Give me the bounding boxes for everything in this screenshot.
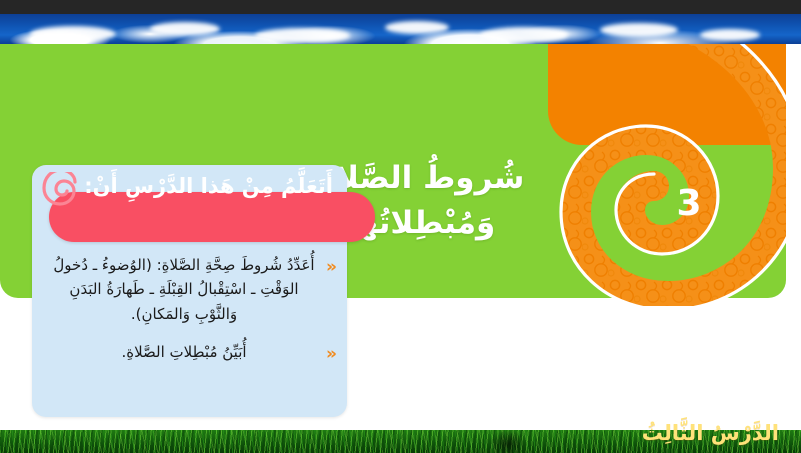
cloud-shape [700, 29, 760, 41]
objectives-list: « أُعَدِّدُ شُروطَ صِحَّةِ الصَّلاةِ: (ا… [46, 253, 337, 381]
objectives-card: أَتَعَلَّمُ مِنْ هَذا الدَّرْسِ أَنْ: « … [32, 165, 347, 417]
orange-header-block [548, 44, 786, 145]
cloud-shape [385, 21, 449, 34]
objective-text: أُعَدِّدُ شُروطَ صِحَّةِ الصَّلاةِ: (الو… [46, 253, 322, 326]
top-chrome-bar [0, 0, 801, 14]
cloud-shape [255, 28, 350, 43]
bullet-marker-icon: « [326, 340, 337, 367]
lesson-number-badge: 3 [676, 186, 702, 222]
lesson-page: الدَّرْسُ الثَّالِثُ [0, 0, 801, 453]
objectives-ribbon-title: أَتَعَلَّمُ مِنْ هَذا الدَّرْسِ أَنْ: [84, 174, 333, 198]
list-item: « أُعَدِّدُ شُروطَ صِحَّةِ الصَّلاةِ: (ا… [46, 253, 337, 326]
cloud-shape [150, 22, 220, 36]
cloud-shape [480, 27, 568, 43]
list-item: « أُبَيِّنُ مُبْطِلاتِ الصَّلاةِ. [46, 340, 337, 367]
right-margin [786, 44, 801, 430]
bullet-marker-icon: « [326, 253, 337, 280]
grass-shadow-patch [490, 430, 526, 453]
cloud-shape [30, 26, 116, 42]
objectives-ribbon [49, 192, 375, 242]
sky-photo-banner [0, 14, 801, 44]
objective-text: أُبَيِّنُ مُبْطِلاتِ الصَّلاةِ. [46, 340, 322, 364]
lesson-label: الدَّرْسُ الثَّالِثُ [642, 421, 779, 445]
cloud-shape [600, 23, 678, 37]
spiral-icon [42, 172, 78, 208]
